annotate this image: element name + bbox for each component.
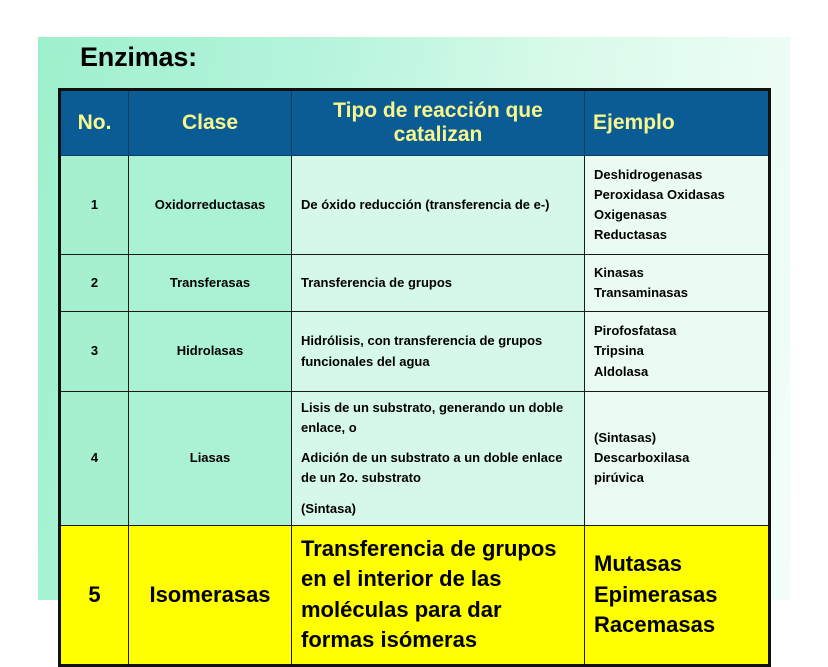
column-header-tipo-label: Tipo de reacción que catalizan (292, 99, 584, 146)
reaction-line: Adición de un substrato a un doble enlac… (301, 448, 574, 488)
row-reaction-type: Transferencia de grupos (292, 255, 585, 312)
reaction-line: De óxido reducción (transferencia de e-) (301, 195, 574, 215)
example-line: Peroxidasa Oxidasas (594, 185, 760, 205)
table-header-row: No. Clase Tipo de reacción que catalizan… (60, 90, 770, 156)
row-examples: Kinasas Transaminasas (585, 255, 770, 312)
row-class: Transferasas (129, 255, 292, 312)
example-line: Oxigenasas (594, 205, 760, 225)
row-number: 4 (60, 392, 129, 526)
table-row: 1 Oxidorreductasas De óxido reducción (t… (60, 156, 770, 255)
row-examples: Mutasas Epimerasas Racemasas (585, 525, 770, 665)
table-row-highlighted: 5 Isomerasas Transferencia de grupos en … (60, 525, 770, 665)
example-line: Descarboxilasa (594, 448, 760, 468)
example-line: Transaminasas (594, 283, 760, 303)
row-number: 3 (60, 312, 129, 392)
row-class: Oxidorreductasas (129, 156, 292, 255)
table-row: 3 Hidrolasas Hidrólisis, con transferenc… (60, 312, 770, 392)
row-reaction-type: Transferencia de grupos en el interior d… (292, 525, 585, 665)
column-header-clase-label: Clase (129, 111, 291, 135)
slide-panel: Enzimas: No. Clase Tipo de reacción que … (38, 37, 790, 600)
table-row: 4 Liasas Lisis de un substrato, generand… (60, 392, 770, 526)
row-number: 2 (60, 255, 129, 312)
row-examples: (Sintasas) Descarboxilasa pirúvica (585, 392, 770, 526)
page-title: Enzimas: (80, 42, 197, 73)
example-line: Deshidrogenasas (594, 165, 760, 185)
example-line: Epimerasas (594, 580, 760, 610)
row-examples: Pirofosfatasa Tripsina Aldolasa (585, 312, 770, 392)
row-examples: Deshidrogenasas Peroxidasa Oxidasas Oxig… (585, 156, 770, 255)
reaction-line: (Sintasa) (301, 499, 574, 519)
example-line: Pirofosfatasa (594, 321, 760, 341)
example-line: Tripsina (594, 341, 760, 361)
column-header-clase: Clase (129, 90, 292, 156)
row-class: Liasas (129, 392, 292, 526)
column-header-ejemplo: Ejemplo (585, 90, 770, 156)
table-row: 2 Transferasas Transferencia de grupos K… (60, 255, 770, 312)
reaction-line: Transferencia de grupos (301, 273, 574, 293)
example-line: Mutasas (594, 549, 760, 579)
row-reaction-type: De óxido reducción (transferencia de e-) (292, 156, 585, 255)
row-class: Hidrolasas (129, 312, 292, 392)
example-line: Kinasas (594, 263, 760, 283)
row-number: 5 (60, 525, 129, 665)
example-line: Reductasas (594, 225, 760, 245)
row-class: Isomerasas (129, 525, 292, 665)
example-line: (Sintasas) (594, 428, 760, 448)
example-line: Racemasas (594, 610, 760, 640)
enzymes-table: No. Clase Tipo de reacción que catalizan… (58, 88, 771, 667)
column-header-no: No. (60, 90, 129, 156)
reaction-line: Hidrólisis, con transferencia de grupos … (301, 331, 574, 371)
reaction-line: Transferencia de grupos en el interior d… (301, 534, 574, 655)
reaction-line: Lisis de un substrato, generando un dobl… (301, 398, 574, 438)
row-reaction-type: Hidrólisis, con transferencia de grupos … (292, 312, 585, 392)
column-header-ejemplo-label: Ejemplo (593, 111, 768, 135)
example-line: Aldolasa (594, 362, 760, 382)
row-number: 1 (60, 156, 129, 255)
example-line: pirúvica (594, 468, 760, 488)
row-reaction-type: Lisis de un substrato, generando un dobl… (292, 392, 585, 526)
column-header-tipo: Tipo de reacción que catalizan (292, 90, 585, 156)
column-header-no-label: No. (61, 111, 128, 135)
